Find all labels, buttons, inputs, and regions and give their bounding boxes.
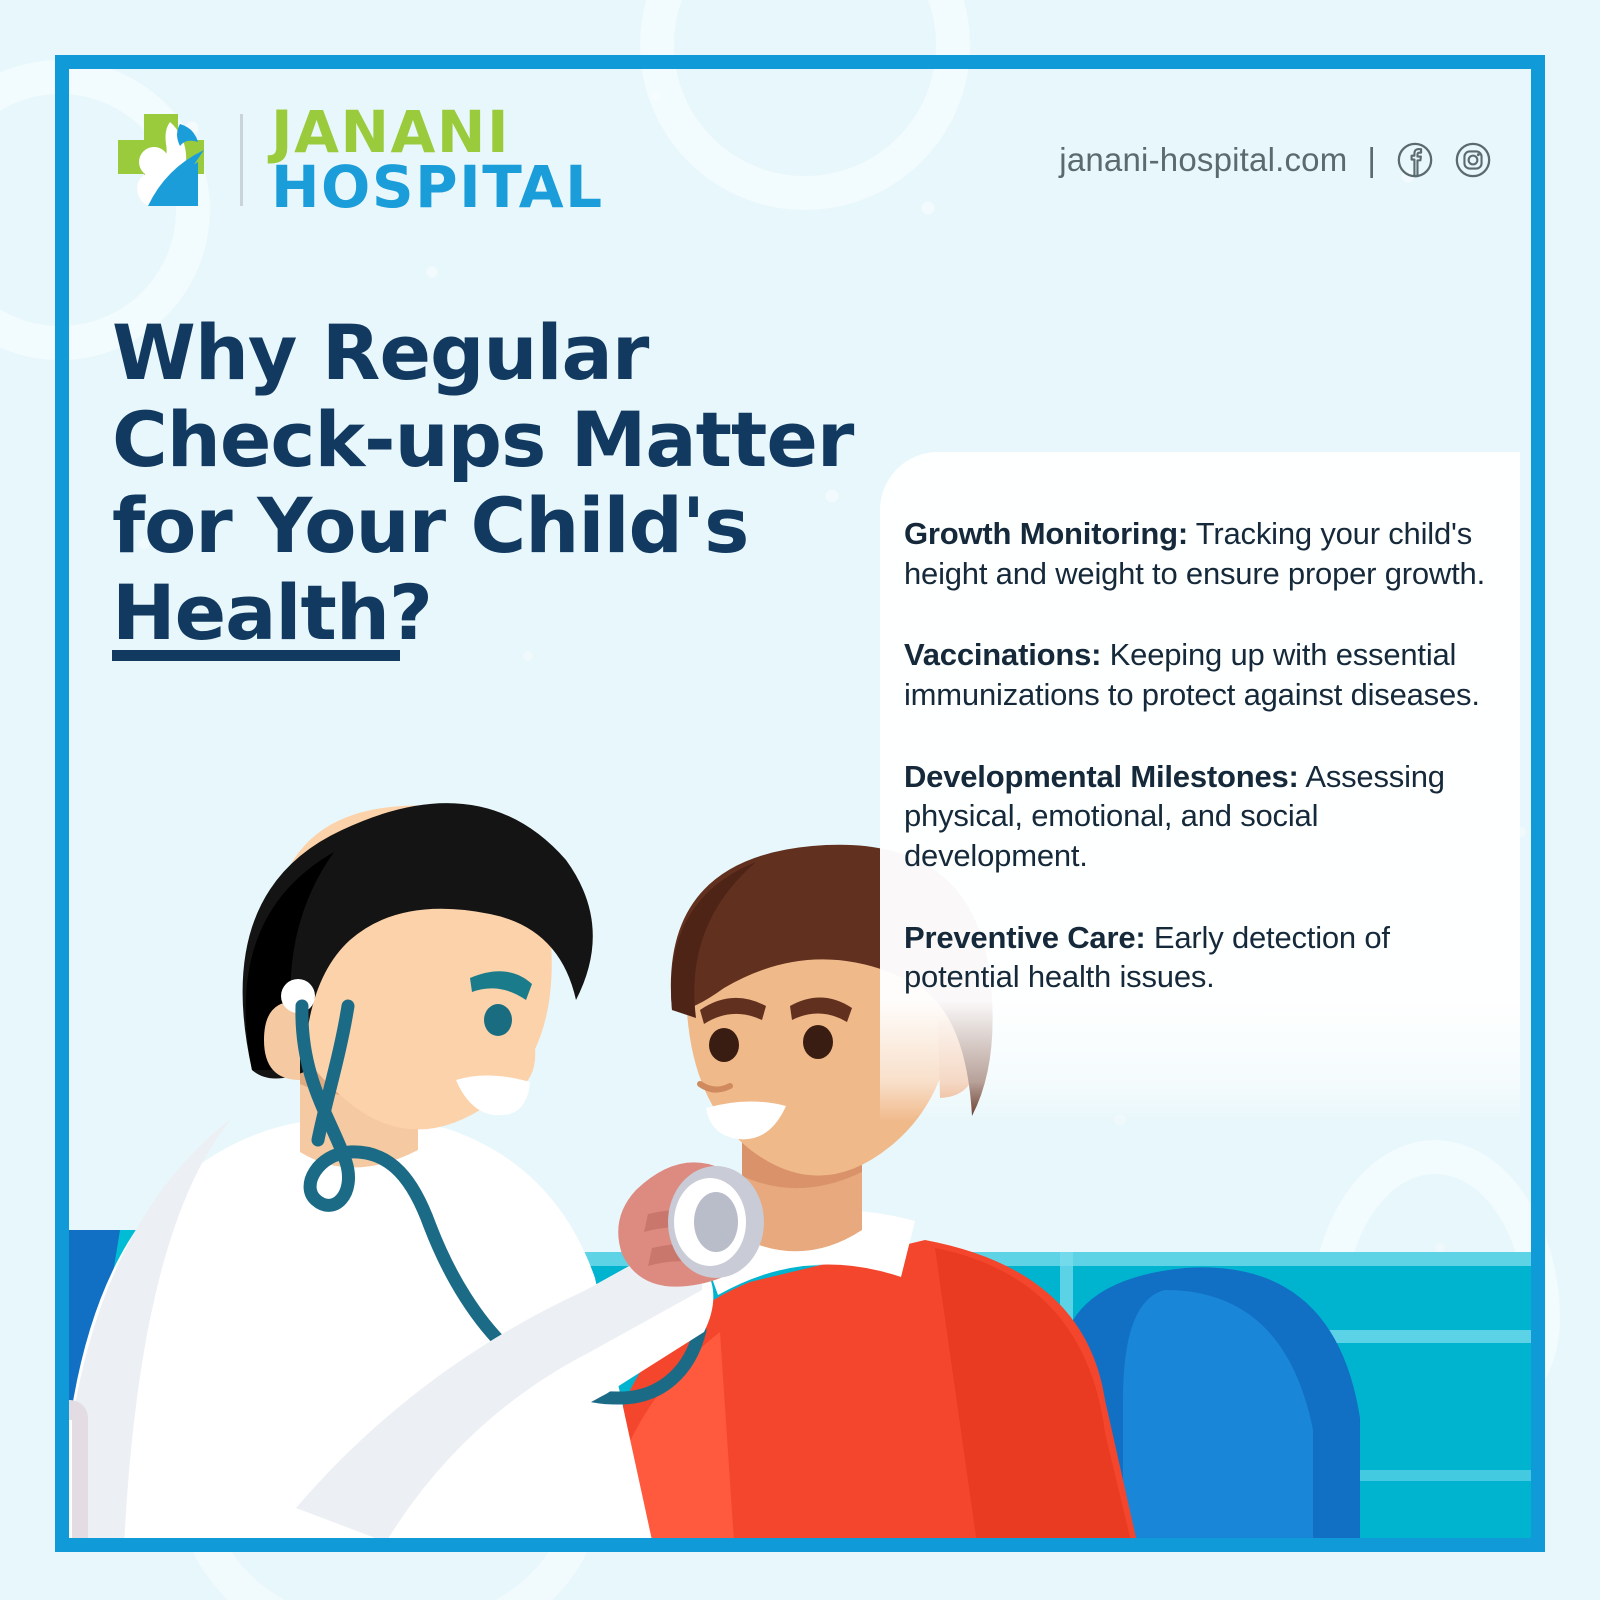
medical-cross-mother-child-logo <box>108 106 216 214</box>
benefit-item: Growth Monitoring: Tracking your child's… <box>904 514 1486 593</box>
brand-block: JANANI HOSPITAL <box>108 105 604 214</box>
benefit-lead: Vaccinations: <box>904 637 1101 672</box>
brand-name-line1: JANANI <box>271 105 604 160</box>
benefit-lead: Developmental Milestones: <box>904 759 1299 794</box>
brand-divider <box>240 114 243 206</box>
contact-block: janani-hospital.com | <box>1059 141 1492 179</box>
benefit-item: Preventive Care: Early detection of pote… <box>904 918 1486 997</box>
facebook-icon[interactable] <box>1396 141 1434 179</box>
infographic-poster: JANANI HOSPITAL janani-hospital.com | <box>0 0 1600 1600</box>
brand-wordmark: JANANI HOSPITAL <box>271 105 604 214</box>
benefit-lead: Growth Monitoring: <box>904 516 1188 551</box>
website-url[interactable]: janani-hospital.com <box>1059 141 1347 179</box>
benefit-item: Vaccinations: Keeping up with essential … <box>904 635 1486 714</box>
page-title: Why Regular Check-ups Matter for Your Ch… <box>112 310 892 657</box>
brand-name-line2: HOSPITAL <box>271 160 604 215</box>
instagram-icon[interactable] <box>1454 141 1492 179</box>
contact-separator: | <box>1367 141 1376 179</box>
title-accent-bar <box>112 650 400 661</box>
poster-header: JANANI HOSPITAL janani-hospital.com | <box>108 100 1492 220</box>
benefits-card: Growth Monitoring: Tracking your child's… <box>880 452 1520 1122</box>
benefit-lead: Preventive Care: <box>904 920 1146 955</box>
height-measuring-ruler <box>14 1400 88 1600</box>
benefit-item: Developmental Milestones: Assessing phys… <box>904 757 1486 876</box>
